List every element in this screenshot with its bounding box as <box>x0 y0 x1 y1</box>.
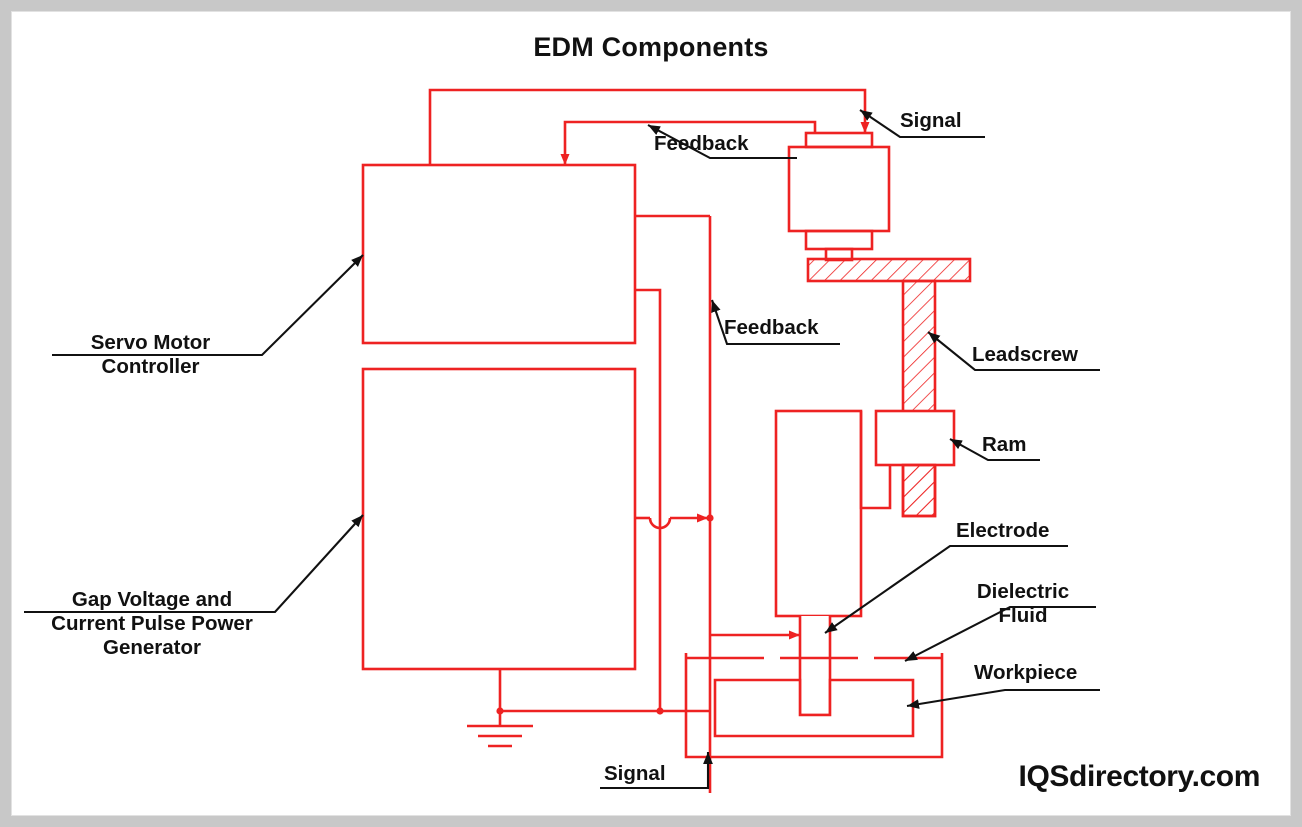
label-gap-voltage-generator-line3: Generator <box>103 636 201 659</box>
electrode-shaft <box>800 616 830 715</box>
servo-motor-controller-block <box>363 165 635 343</box>
leadscrew-column-lower <box>903 465 935 516</box>
gap-return-branch <box>635 290 660 711</box>
label-gap-voltage-generator-line2: Current Pulse Power <box>51 612 253 635</box>
label-gap-voltage-generator-line1: Gap Voltage and <box>72 588 232 611</box>
junction-dot-right <box>706 514 713 521</box>
leadscrew-support-bar <box>808 259 970 281</box>
page-title: EDM Components <box>0 32 1302 63</box>
label-signal-top: Signal <box>900 109 962 133</box>
label-dielectric-fluid-line1: Dielectric <box>977 580 1069 603</box>
label-electrode: Electrode <box>956 519 1049 543</box>
ram-collar <box>876 411 954 465</box>
label-dielectric-fluid: Dielectric Fluid <box>953 580 1093 628</box>
servo-motor-body <box>789 147 889 231</box>
label-feedback-top: Feedback <box>654 132 749 156</box>
signal-line-top <box>430 90 865 165</box>
label-servo-motor-controller-line1: Servo Motor <box>91 331 211 354</box>
label-servo-motor-controller-line2: Controller <box>102 355 200 378</box>
gap-voltage-power-generator-block <box>363 369 635 669</box>
leader-workpiece <box>907 690 1100 706</box>
motor-top-cap <box>806 133 872 147</box>
label-feedback-mid: Feedback <box>724 316 819 340</box>
watermark-iqsdirectory: IQSdirectory.com <box>1019 760 1260 795</box>
label-gap-voltage-generator: Gap Voltage and Current Pulse Power Gene… <box>20 588 284 659</box>
label-dielectric-fluid-line2: Fluid <box>999 604 1048 627</box>
label-signal-bottom: Signal <box>604 762 666 786</box>
edm-schematic <box>0 0 1302 827</box>
diagram-page: EDM Components Servo Motor Controller Ga… <box>0 0 1302 827</box>
motor-bottom-cap <box>806 231 872 249</box>
label-ram: Ram <box>982 433 1026 457</box>
junction-dot-mid <box>656 707 663 714</box>
junction-dot-left <box>496 707 503 714</box>
label-servo-motor-controller: Servo Motor Controller <box>48 331 253 379</box>
ram-body <box>776 411 861 616</box>
label-workpiece: Workpiece <box>974 661 1077 685</box>
label-leadscrew: Leadscrew <box>972 343 1078 367</box>
